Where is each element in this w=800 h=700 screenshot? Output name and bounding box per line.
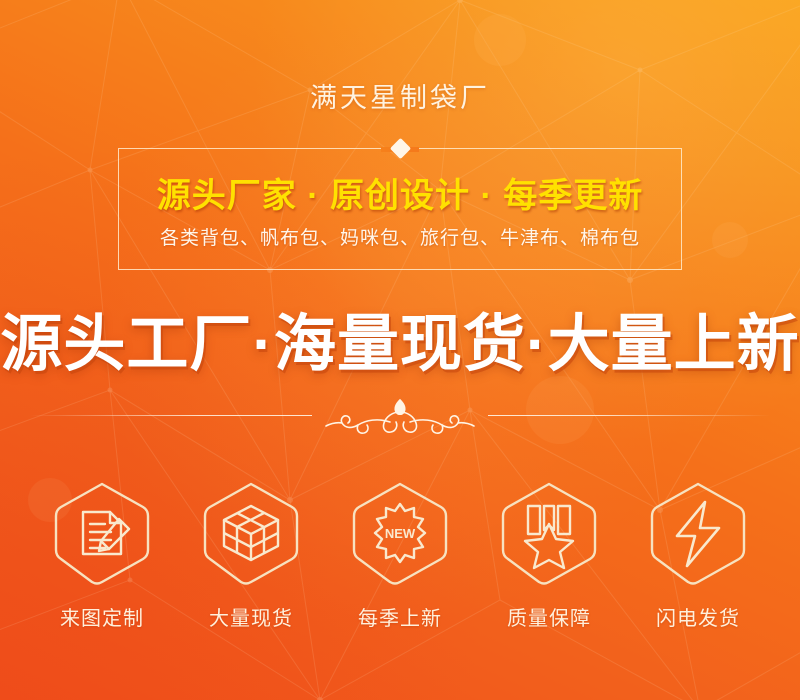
document-pencil-icon [47, 478, 157, 588]
ornamental-flourish-divider-icon [312, 392, 488, 438]
promo-banner: 满天星制袋厂 源头厂家 · 原创设计 · 每季更新 各类背包、帆布包、妈咪包、旅… [0, 0, 800, 700]
feature-label: 闪电发货 [656, 602, 740, 631]
feature-item-new[interactable]: NEW 每季上新 [334, 478, 466, 631]
medal-star-ribbon-icon [494, 478, 604, 588]
ornamental-divider [30, 392, 770, 438]
feature-item-custom[interactable]: 来图定制 [36, 478, 168, 631]
feature-label: 每季上新 [358, 602, 442, 631]
new-badge-text: NEW [385, 526, 416, 541]
frame-subtitle: 各类背包、帆布包、妈咪包、旅行包、牛津布、棉布包 [119, 223, 681, 250]
new-starburst-badge-icon: NEW [345, 478, 455, 588]
divider-rule-right [488, 415, 770, 416]
feature-label: 质量保障 [507, 602, 591, 631]
feature-row: 来图定制 大量现货 [0, 478, 800, 631]
diamond-accent-icon [389, 138, 410, 159]
highlight-frame: 源头厂家 · 原创设计 · 每季更新 各类背包、帆布包、妈咪包、旅行包、牛津布、… [118, 148, 682, 270]
feature-item-quality[interactable]: 质量保障 [483, 478, 615, 631]
feature-label: 大量现货 [209, 602, 293, 631]
lightning-bolt-icon [643, 478, 753, 588]
feature-item-stock[interactable]: 大量现货 [185, 478, 317, 631]
divider-rule-left [30, 415, 312, 416]
main-headline: 源头工厂·海量现货·大量上新 [0, 312, 800, 377]
cube-box-icon [196, 478, 306, 588]
frame-headline: 源头厂家 · 原创设计 · 每季更新 [119, 168, 681, 217]
feature-item-shipping[interactable]: 闪电发货 [632, 478, 764, 631]
feature-label: 来图定制 [60, 602, 144, 631]
page-title: 满天星制袋厂 [0, 76, 800, 115]
